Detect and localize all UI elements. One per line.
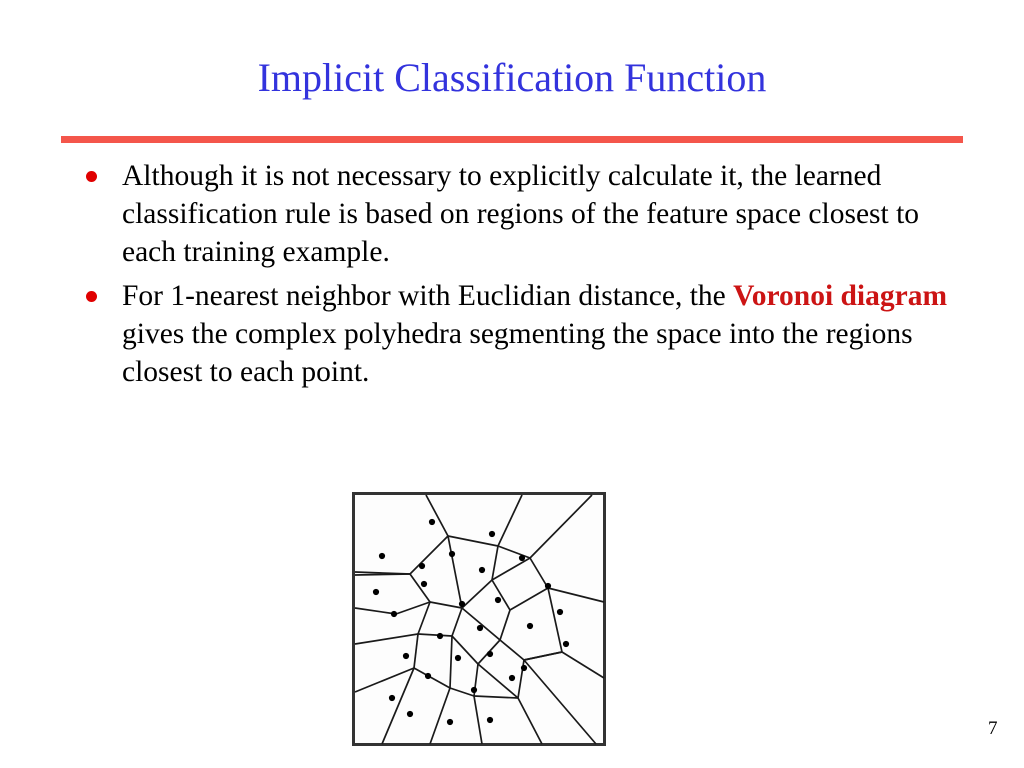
bullet-dot-icon	[86, 171, 97, 182]
voronoi-diagram-svg	[352, 492, 606, 746]
bullet-text-2: For 1-nearest neighbor with Euclidian di…	[122, 277, 956, 391]
list-item: For 1-nearest neighbor with Euclidian di…	[76, 277, 956, 391]
figure-border	[354, 494, 605, 745]
bullet-list: Although it is not necessary to explicit…	[76, 157, 956, 397]
slide-canvas: Implicit Classification Function Althoug…	[0, 0, 1024, 768]
bullet-text-2-part-b: gives the complex polyhedra segmenting t…	[122, 318, 913, 388]
bullet-dot-icon	[86, 291, 97, 302]
bullet-text-1: Although it is not necessary to explicit…	[122, 157, 956, 271]
list-item: Although it is not necessary to explicit…	[76, 157, 956, 271]
bullet-text-2-part-a: For 1-nearest neighbor with Euclidian di…	[122, 280, 733, 312]
page-title: Implicit Classification Function	[62, 54, 962, 102]
title-divider-rule	[61, 136, 963, 143]
voronoi-diagram-figure	[352, 492, 606, 746]
emphasis-voronoi-diagram: Voronoi diagram	[733, 280, 947, 312]
page-number: 7	[988, 718, 998, 740]
